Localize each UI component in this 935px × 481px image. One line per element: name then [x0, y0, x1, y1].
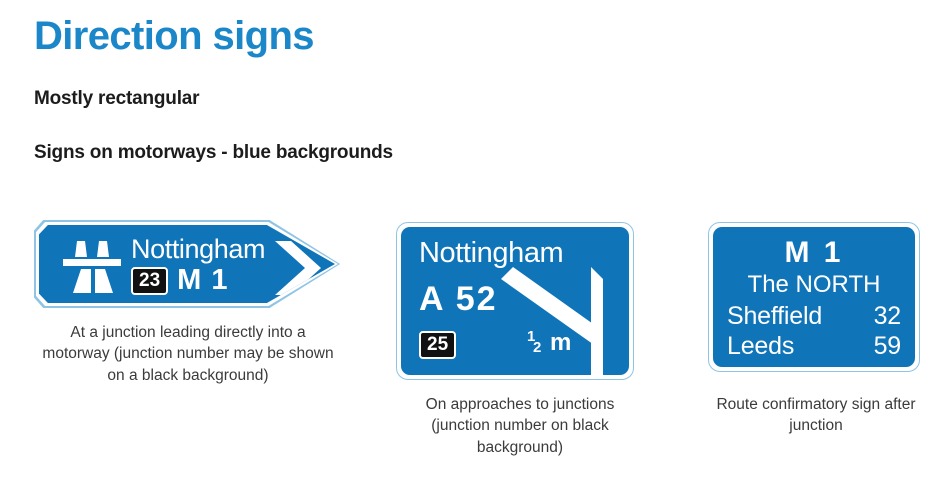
direction-sign-junction-approach: Nottingham A 52 25 1 2 m [396, 222, 634, 380]
distance-unit: m [550, 331, 571, 355]
sign-caption: On approaches to junctions (junction num… [398, 394, 642, 458]
sign-route-number: A 52 [419, 282, 498, 316]
junction-number-badge: 23 [131, 267, 168, 295]
junction-number-badge: 25 [419, 331, 456, 359]
sign-place-name: Nottingham [131, 235, 291, 263]
direction-sign-route-confirmatory: M 1 The NORTH Sheffield 32 Leeds 59 [708, 222, 920, 372]
destination-distance: 59 [874, 332, 901, 360]
junction-badge-wrap: 25 [419, 331, 456, 359]
destination-name: Leeds [727, 332, 794, 360]
sign-place-name: Nottingham [419, 239, 563, 268]
destination-row: Leeds 59 [727, 332, 901, 360]
sign-distance: 1 2 m [527, 329, 571, 355]
sign-blue-face: M 1 The NORTH Sheffield 32 Leeds 59 [713, 227, 915, 367]
sign-caption: At a junction leading directly into a mo… [38, 322, 338, 386]
sign-route-number: M 1 [177, 266, 228, 295]
page-title: Direction signs [34, 16, 314, 56]
sign-direction-label: The NORTH [727, 271, 901, 300]
direction-sign-motorway-junction: Nottingham 23 M 1 [34, 220, 340, 308]
destination-distance: 32 [874, 302, 901, 330]
subheading-shape: Mostly rectangular [34, 88, 199, 110]
half-fraction: 1 2 [527, 329, 545, 355]
subheading-motorway-signs: Signs on motorways - blue backgrounds [34, 142, 393, 164]
sign-blue-face: Nottingham A 52 25 1 2 m [401, 227, 629, 375]
sign-route-number: M 1 [727, 235, 901, 270]
destination-row: Sheffield 32 [727, 302, 901, 330]
sign-route-row: 23 M 1 [131, 266, 291, 295]
fraction-denominator: 2 [533, 340, 541, 355]
sign-caption: Route confirmatory sign after junction [706, 394, 926, 437]
motorway-symbol-icon [61, 239, 123, 295]
fork-diagram-icon [491, 265, 623, 377]
destination-name: Sheffield [727, 302, 822, 330]
